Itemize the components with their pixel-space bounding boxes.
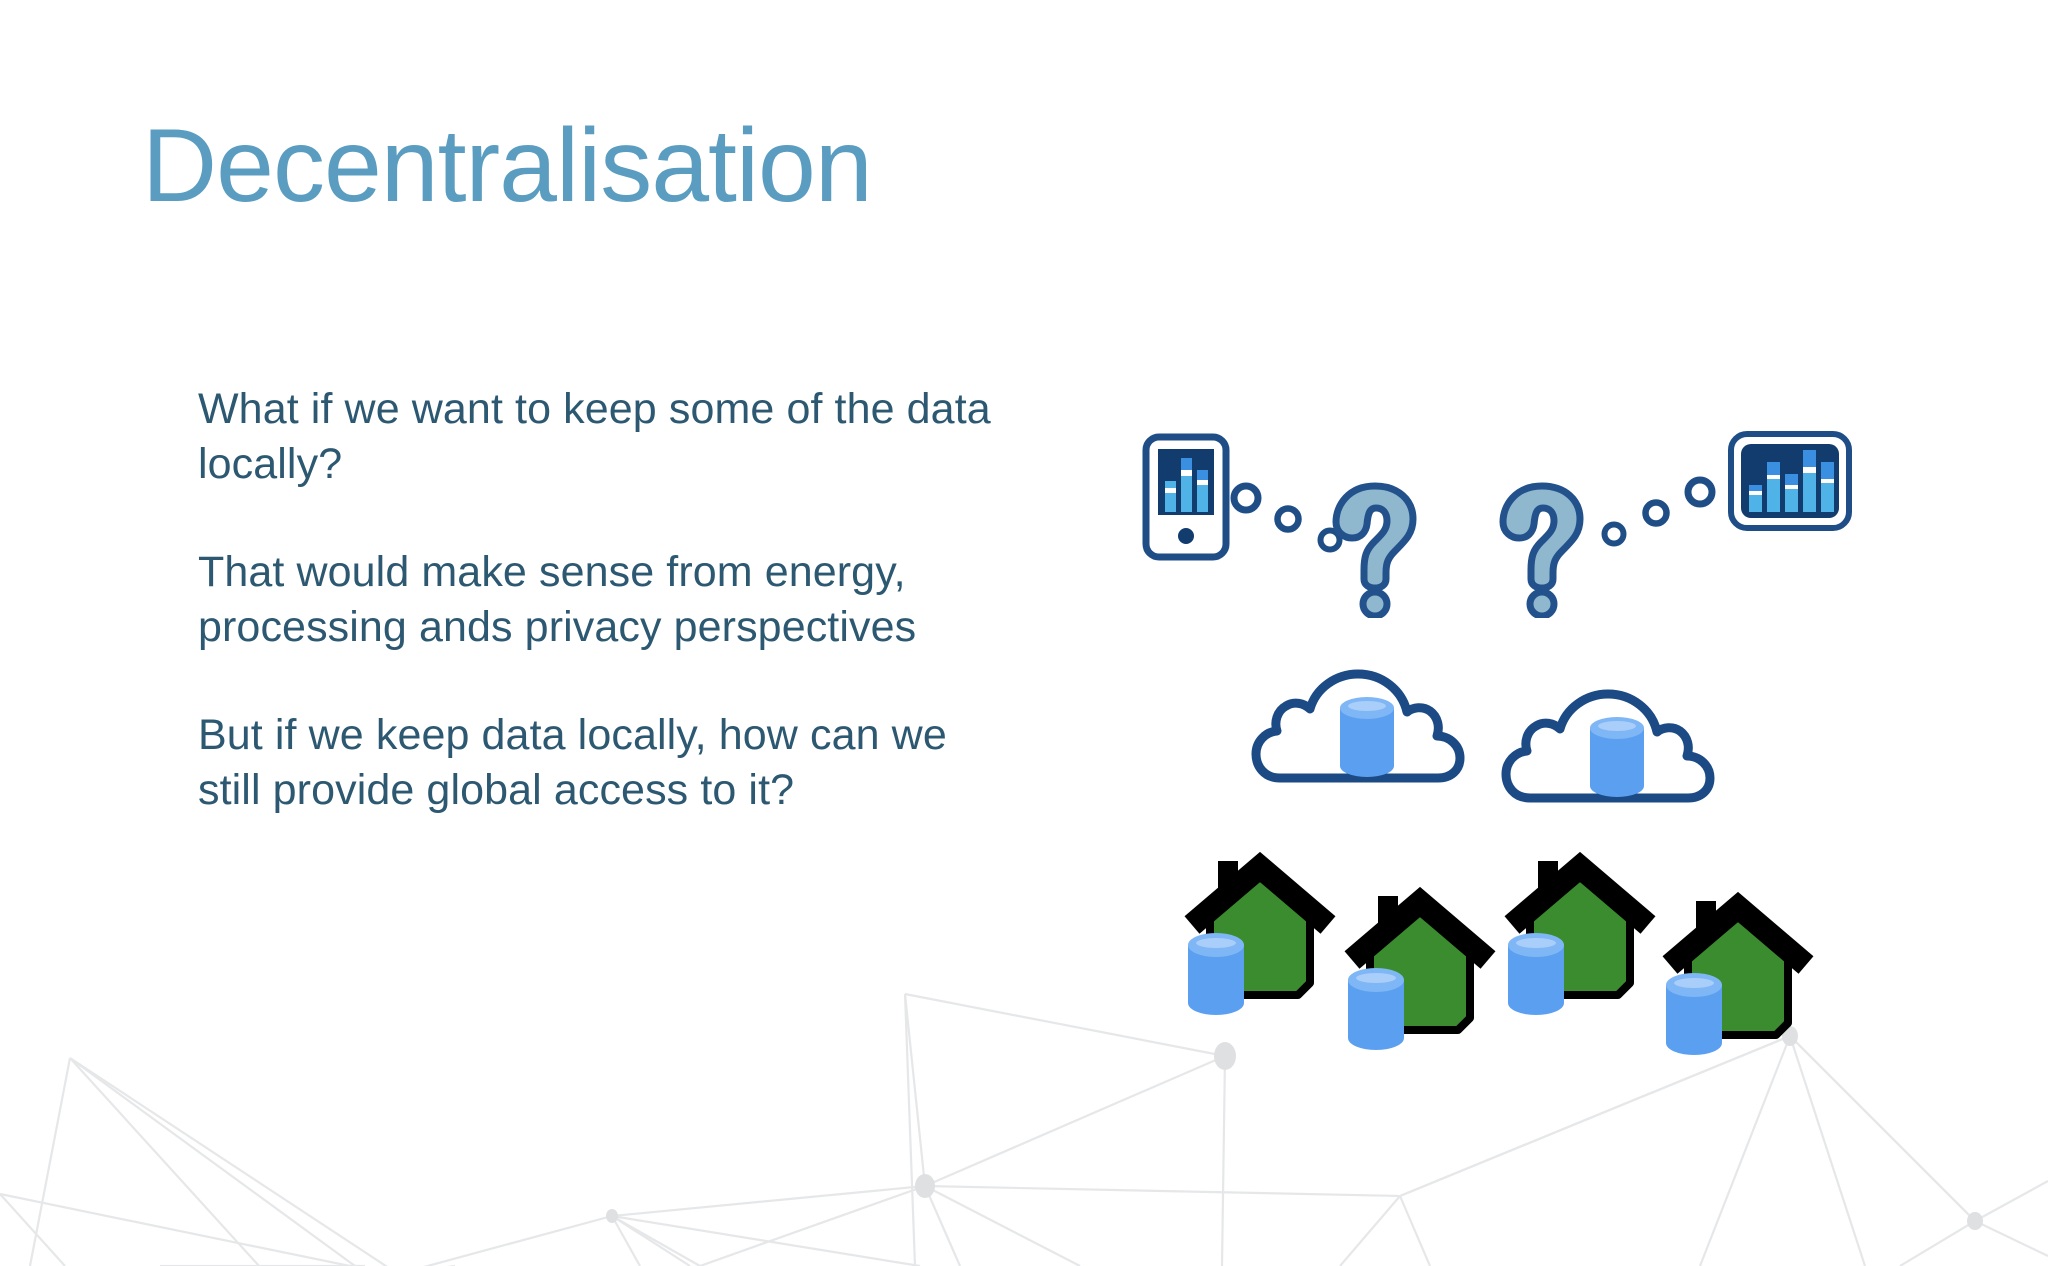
house-database-4-icon xyxy=(1658,885,1818,1065)
tablet-dashboard-icon xyxy=(1725,428,1855,540)
cloud-database-right-icon xyxy=(1500,670,1740,820)
page-title: Decentralisation xyxy=(142,112,872,221)
house-database-1-icon xyxy=(1180,845,1340,1025)
question-mark-right-icon xyxy=(1495,478,1590,618)
body-paragraph-3: But if we keep data locally, how can we … xyxy=(198,708,998,819)
decentralisation-diagram xyxy=(1100,420,2000,1100)
body-paragraph-1: What if we want to keep some of the data… xyxy=(198,382,998,493)
question-mark-left-icon xyxy=(1328,478,1423,618)
signal-dots-right-icon xyxy=(1598,476,1728,556)
cloud-database-left-icon xyxy=(1250,650,1490,800)
house-database-2-icon xyxy=(1340,880,1500,1060)
body-paragraph-2: That would make sense from energy, proce… xyxy=(198,545,998,656)
slide: Decentralisation What if we want to keep… xyxy=(0,0,2048,1266)
body-text-block: What if we want to keep some of the data… xyxy=(198,382,998,819)
house-database-3-icon xyxy=(1500,845,1660,1025)
phone-with-chart-icon xyxy=(1140,432,1232,562)
